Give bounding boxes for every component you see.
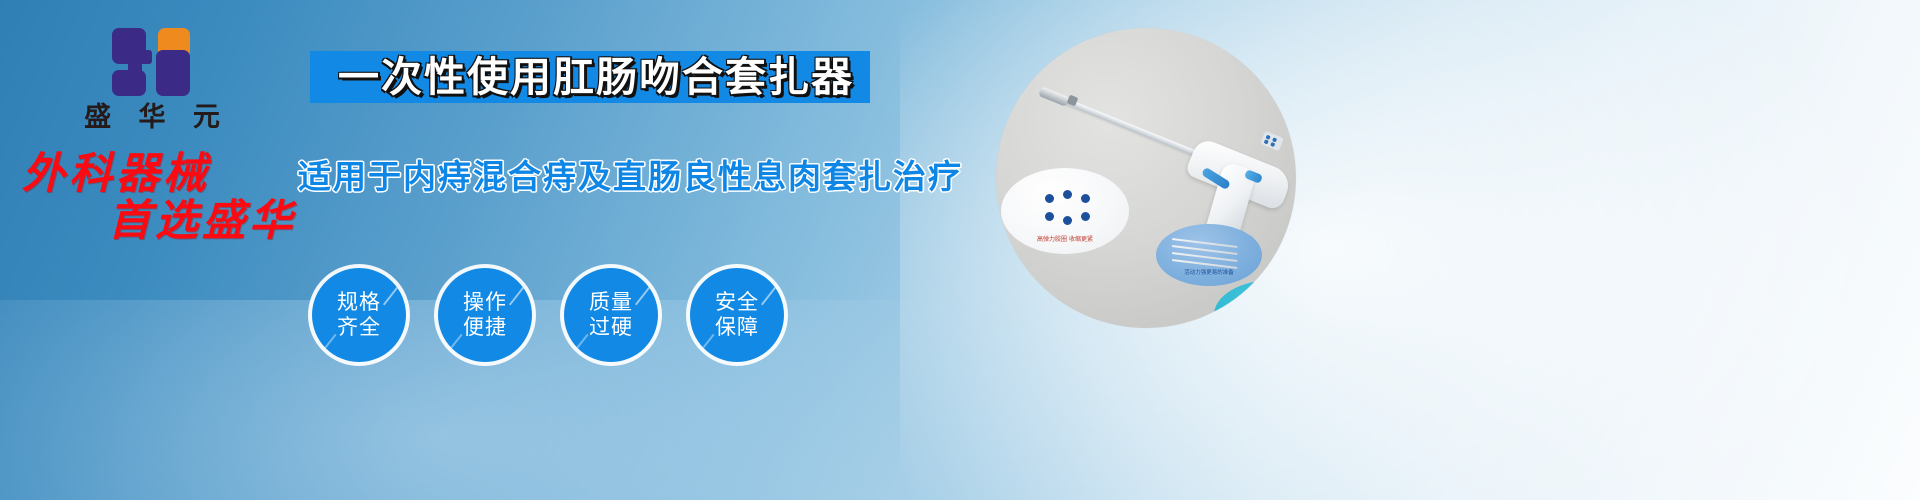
feature-1-line-1: 规格	[337, 290, 381, 315]
needle-inset	[1156, 224, 1262, 286]
feature-label-1: 规格 齐全	[337, 290, 381, 340]
needle-caption: 活动力强更易的准备	[1156, 268, 1262, 276]
device-tip-body	[1244, 300, 1296, 320]
product-photo: 高弹力胶圈 收缩更紧 活动力强更易的准备	[996, 28, 1296, 328]
feature-1-line-2: 齐全	[337, 315, 381, 340]
device-tip-ring	[1278, 300, 1284, 320]
calligraphy-line-2: 首选盛华	[108, 199, 362, 244]
brand-logo[interactable]: 盛 华 元	[62, 26, 242, 131]
feature-label-4: 安全 保障	[715, 290, 759, 340]
feature-circle-3[interactable]: 质量 过硬	[564, 268, 658, 362]
feature-4-line-2: 保障	[715, 315, 759, 340]
shenghuayuan-blocks-logo-icon	[110, 26, 194, 98]
feature-4-line-1: 安全	[715, 290, 759, 315]
calligraphy-line-1: 外科器械	[22, 149, 210, 199]
feature-2-line-1: 操作	[463, 290, 507, 315]
device-control-panel	[1260, 131, 1284, 151]
feature-circle-4[interactable]: 安全 保障	[690, 268, 784, 362]
brand-name: 盛 华 元	[62, 104, 242, 131]
feature-list: 规格 齐全 操作 便捷 质量 过硬 安全 保障	[312, 268, 784, 362]
feature-circle-1[interactable]: 规格 齐全	[312, 268, 406, 362]
feature-circle-2[interactable]: 操作 便捷	[438, 268, 532, 362]
subtitle: 适用于内痔混合痔及直肠良性息肉套扎治疗	[298, 160, 963, 193]
promo-banner: 盛 华 元 外科器械 首选盛华 一次性使用肛肠吻合套扎器 适用于内痔混合痔及直肠…	[0, 0, 1920, 500]
feature-2-line-2: 便捷	[463, 315, 507, 340]
feature-label-3: 质量 过硬	[589, 290, 633, 340]
rubber-band-caption: 高弹力胶圈 收缩更紧	[1001, 234, 1129, 243]
feature-3-line-2: 过硬	[589, 315, 633, 340]
main-title: 一次性使用肛肠吻合套扎器	[338, 57, 854, 98]
feature-label-2: 操作 便捷	[463, 290, 507, 340]
main-title-bar: 一次性使用肛肠吻合套扎器	[310, 51, 870, 103]
feature-3-line-1: 质量	[589, 290, 633, 315]
device-barrel-tip	[1038, 86, 1070, 107]
